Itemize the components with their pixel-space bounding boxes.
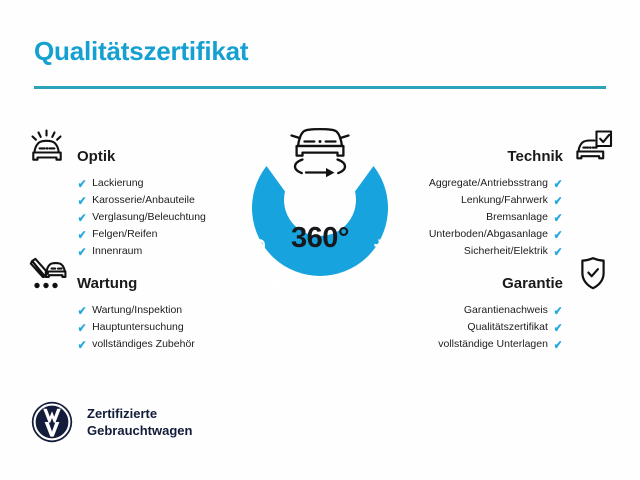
check-icon: ✔ [554,339,563,351]
car-rotation-icon [280,118,360,180]
list-item-label: Hauptuntersuchung [92,319,184,336]
list-item: ✔Garantienachweis [404,302,563,319]
list-item-label: vollständige Unterlagen [438,336,548,353]
list-item: ✔vollständige Unterlagen [404,336,563,353]
section-title: Wartung [77,275,137,292]
section-garantie-header: Garantie [404,255,614,293]
section-technik-list: ✔Aggregate/Antriebsstrang ✔Lenkung/Fahrw… [404,175,563,260]
section-wartung-list: ✔Wartung/Inspektion ✔Hauptuntersuchung ✔… [77,302,236,353]
footer-text: Zertifizierte Gebrauchtwagen [87,405,192,439]
shield-check-icon [572,255,614,293]
car-checkbox-icon [572,128,614,166]
list-item: ✔vollständiges Zubehör [77,336,236,353]
list-item-label: Wartung/Inspektion [92,302,182,319]
gebrauchtwagen-check-badge: Gebrauchtwagen-Check 360° [218,118,422,318]
section-technik-header: Technik [404,128,614,166]
list-item-label: Aggregate/Antriebsstrang [429,175,548,192]
section-optik-header: Optik [26,128,236,166]
list-item-label: Unterboden/Abgasanlage [429,226,548,243]
section-optik-title-wrap: Optik [77,147,236,166]
section-garantie-list: ✔Garantienachweis ✔Qualitätszertifikat ✔… [404,302,563,353]
section-garantie-title-wrap: Garantie [404,274,563,293]
list-item-label: Lenkung/Fahrwerk [461,192,548,209]
footer-line-1: Zertifizierte [87,405,192,422]
list-item-label: vollständiges Zubehör [92,336,195,353]
list-item: ✔Verglasung/Beleuchtung [77,209,236,226]
car-service-tool-icon [26,255,68,293]
section-title: Garantie [502,275,563,292]
check-icon: ✔ [78,322,87,334]
check-icon: ✔ [554,212,563,224]
list-item-label: Lackierung [92,175,143,192]
check-icon: ✔ [554,322,563,334]
section-wartung-title-wrap: Wartung [77,274,236,293]
section-technik-title-wrap: Technik [404,147,563,166]
section-optik: Optik ✔Lackierung ✔Karosserie/Anbauteile… [26,128,236,260]
list-item-label: Felgen/Reifen [92,226,157,243]
section-technik: Technik ✔Aggregate/Antriebsstrang ✔Lenku… [404,128,614,260]
list-item: ✔Aggregate/Antriebsstrang [404,175,563,192]
list-item: ✔Bremsanlage [404,209,563,226]
header-divider [34,86,606,89]
list-item: ✔Unterboden/Abgasanlage [404,226,563,243]
list-item-label: Garantienachweis [464,302,548,319]
vw-logo-icon [30,400,74,444]
rotation-arrow-head [326,168,335,177]
check-icon: ✔ [554,195,563,207]
list-item-label: Verglasung/Beleuchtung [92,209,206,226]
quality-certificate-page: Qualitätszertifikat [0,0,640,480]
list-item: ✔Lackierung [77,175,236,192]
section-title: Technik [507,148,563,165]
check-icon: ✔ [78,178,87,190]
list-item: ✔Karosserie/Anbauteile [77,192,236,209]
section-wartung: Wartung ✔Wartung/Inspektion ✔Hauptunters… [26,255,236,353]
badge-value: 360° [218,222,422,255]
check-icon: ✔ [78,212,87,224]
car-shine-icon [26,128,68,166]
section-garantie: Garantie ✔Garantienachweis ✔Qualitätszer… [404,255,614,353]
check-icon: ✔ [78,229,87,241]
list-item: ✔Wartung/Inspektion [77,302,236,319]
list-item-label: Bremsanlage [486,209,548,226]
list-item-label: Karosserie/Anbauteile [92,192,195,209]
section-wartung-header: Wartung [26,255,236,293]
list-item: ✔Felgen/Reifen [77,226,236,243]
check-icon: ✔ [554,229,563,241]
section-optik-list: ✔Lackierung ✔Karosserie/Anbauteile ✔Verg… [77,175,236,260]
check-icon: ✔ [554,305,563,317]
list-item-label: Qualitätszertifikat [467,319,548,336]
page-header: Qualitätszertifikat [34,34,606,89]
list-item: ✔Lenkung/Fahrwerk [404,192,563,209]
check-icon: ✔ [78,195,87,207]
footer-line-2: Gebrauchtwagen [87,422,192,439]
footer-brand: Zertifizierte Gebrauchtwagen [30,400,192,444]
check-icon: ✔ [78,305,87,317]
page-title: Qualitätszertifikat [34,34,606,68]
check-icon: ✔ [78,339,87,351]
list-item: ✔Hauptuntersuchung [77,319,236,336]
list-item: ✔Qualitätszertifikat [404,319,563,336]
section-title: Optik [77,148,115,165]
check-icon: ✔ [554,178,563,190]
